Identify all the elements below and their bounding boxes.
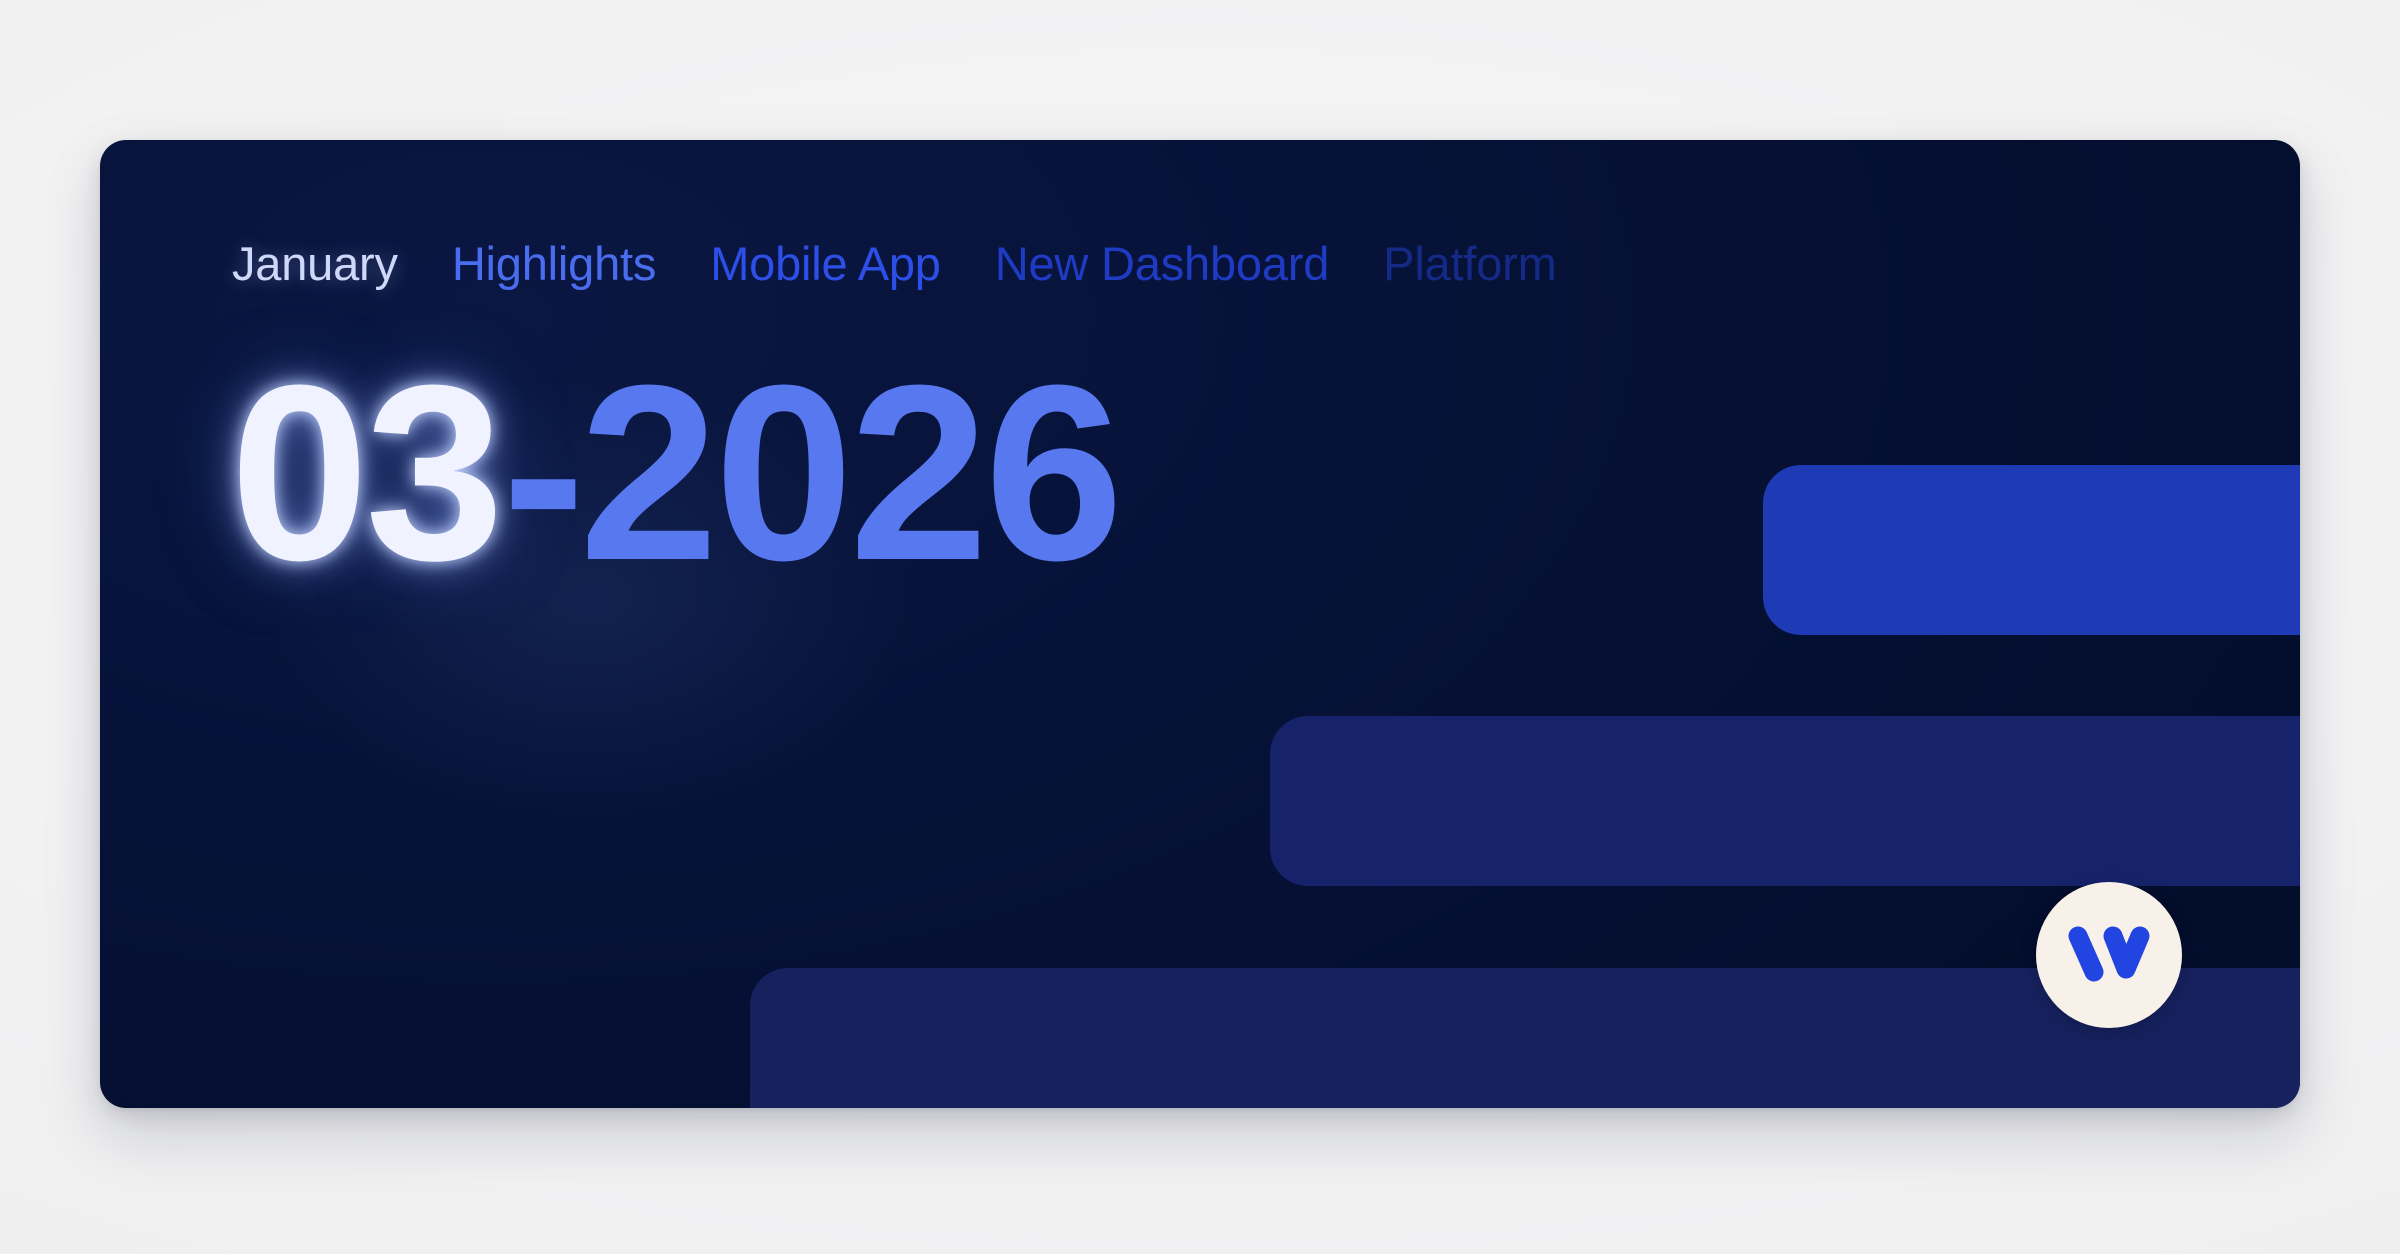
headline-month: 03 bbox=[230, 345, 500, 600]
timeline-nav[interactable]: January Highlights Mobile App New Dashbo… bbox=[232, 240, 1557, 287]
hero-card: January Highlights Mobile App New Dashbo… bbox=[100, 140, 2300, 1108]
nav-item-january[interactable]: January bbox=[232, 240, 398, 287]
nav-item-highlights[interactable]: Highlights bbox=[452, 240, 656, 287]
brand-logo-badge[interactable] bbox=[2036, 882, 2182, 1028]
page-title: 03 - 2026 bbox=[230, 345, 1120, 600]
decorative-bar-2 bbox=[1270, 716, 2300, 886]
headline-year: 2026 bbox=[579, 345, 1119, 600]
nav-item-mobile-app[interactable]: Mobile App bbox=[710, 240, 941, 287]
nav-item-new-dashboard[interactable]: New Dashboard bbox=[995, 240, 1329, 287]
w-logo-icon bbox=[2066, 924, 2152, 986]
headline-separator: - bbox=[500, 345, 579, 600]
decorative-bar-1 bbox=[1763, 465, 2300, 635]
nav-item-platform[interactable]: Platform bbox=[1383, 240, 1556, 287]
